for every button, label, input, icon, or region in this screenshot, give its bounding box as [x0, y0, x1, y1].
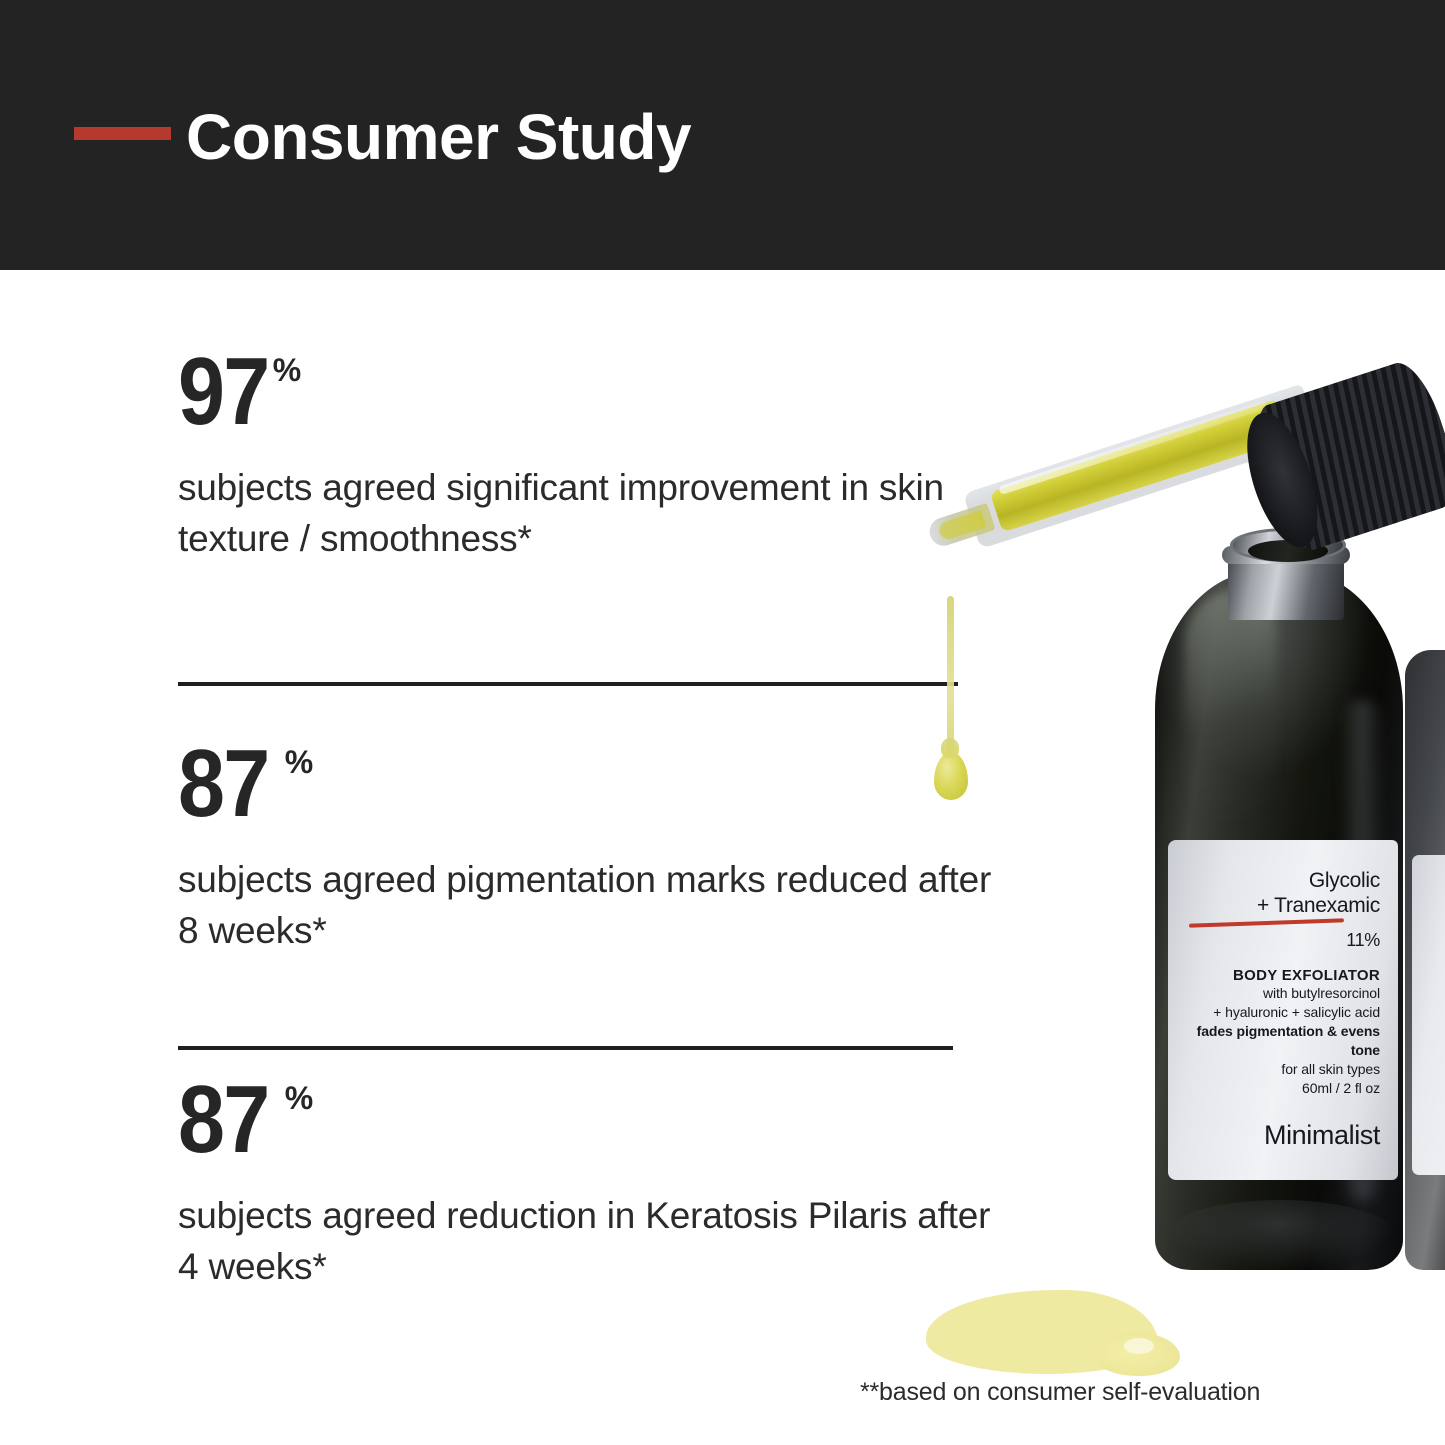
label-volume: 60ml / 2 fl oz [1182, 1079, 1380, 1098]
divider-2 [178, 1046, 953, 1050]
label-ingredient-line1: with butylresorcinol [1182, 984, 1380, 1003]
footnote-text: **based on consumer self-evaluation [860, 1378, 1260, 1407]
secondary-bottle-label [1412, 855, 1445, 1175]
stat-number-1: 97 [178, 348, 268, 436]
stat-value-row-1: 97 % [178, 348, 1000, 436]
label-product-name-line2: + Tranexamic [1182, 893, 1380, 918]
stat-block-2: 87 % subjects agreed pigmentation marks … [178, 740, 1000, 956]
product-image: Glycolic + Tranexamic 11% BODY EXFOLIATO… [900, 400, 1445, 1360]
page-title: Consumer Study [186, 104, 691, 171]
statistics-section: 97 % subjects agreed significant improve… [0, 270, 1000, 1445]
label-product-name-line1: Glycolic [1182, 868, 1380, 893]
header-bar: Consumer Study [0, 0, 1445, 270]
label-skin-types: for all skin types [1182, 1060, 1380, 1079]
bottle-shoulder-highlight [1185, 590, 1277, 820]
stat-description-1: subjects agreed significant improvement … [178, 462, 1000, 564]
pipette-serum-fill [990, 400, 1288, 533]
label-ingredient-line2: + hyaluronic + salicylic acid [1182, 1003, 1380, 1022]
label-red-underline [1189, 919, 1344, 928]
label-underline-container [1182, 918, 1380, 934]
serum-puddle-highlight [1124, 1338, 1154, 1354]
label-brand-name: Minimalist [1182, 1120, 1380, 1151]
stat-block-3: 87 % subjects agreed reduction in Kerato… [178, 1076, 1000, 1292]
stat-block-1: 97 % subjects agreed significant improve… [178, 348, 1000, 564]
stat-number-3: 87 [178, 1076, 268, 1164]
stat-description-2: subjects agreed pigmentation marks reduc… [178, 854, 1000, 956]
serum-droplet [934, 752, 968, 800]
label-claim: fades pigmentation & evens tone [1182, 1022, 1380, 1060]
stat-value-row-3: 87 % [178, 1076, 1000, 1164]
infographic-page: Consumer Study 97 % subjects agreed sign… [0, 0, 1445, 1445]
product-label: Glycolic + Tranexamic 11% BODY EXFOLIATO… [1168, 840, 1398, 1180]
stat-percent-symbol-1: % [273, 354, 301, 386]
divider-1 [178, 682, 958, 686]
stat-percent-symbol-3: % [285, 1082, 313, 1114]
stat-value-row-2: 87 % [178, 740, 1000, 828]
stat-number-2: 87 [178, 740, 268, 828]
header-accent-bar [74, 127, 171, 140]
bottle-base-shadow [1165, 1200, 1395, 1270]
stat-percent-symbol-2: % [285, 746, 313, 778]
stat-description-3: subjects agreed reduction in Keratosis P… [178, 1190, 1000, 1292]
label-product-type: BODY EXFOLIATOR [1182, 967, 1380, 984]
